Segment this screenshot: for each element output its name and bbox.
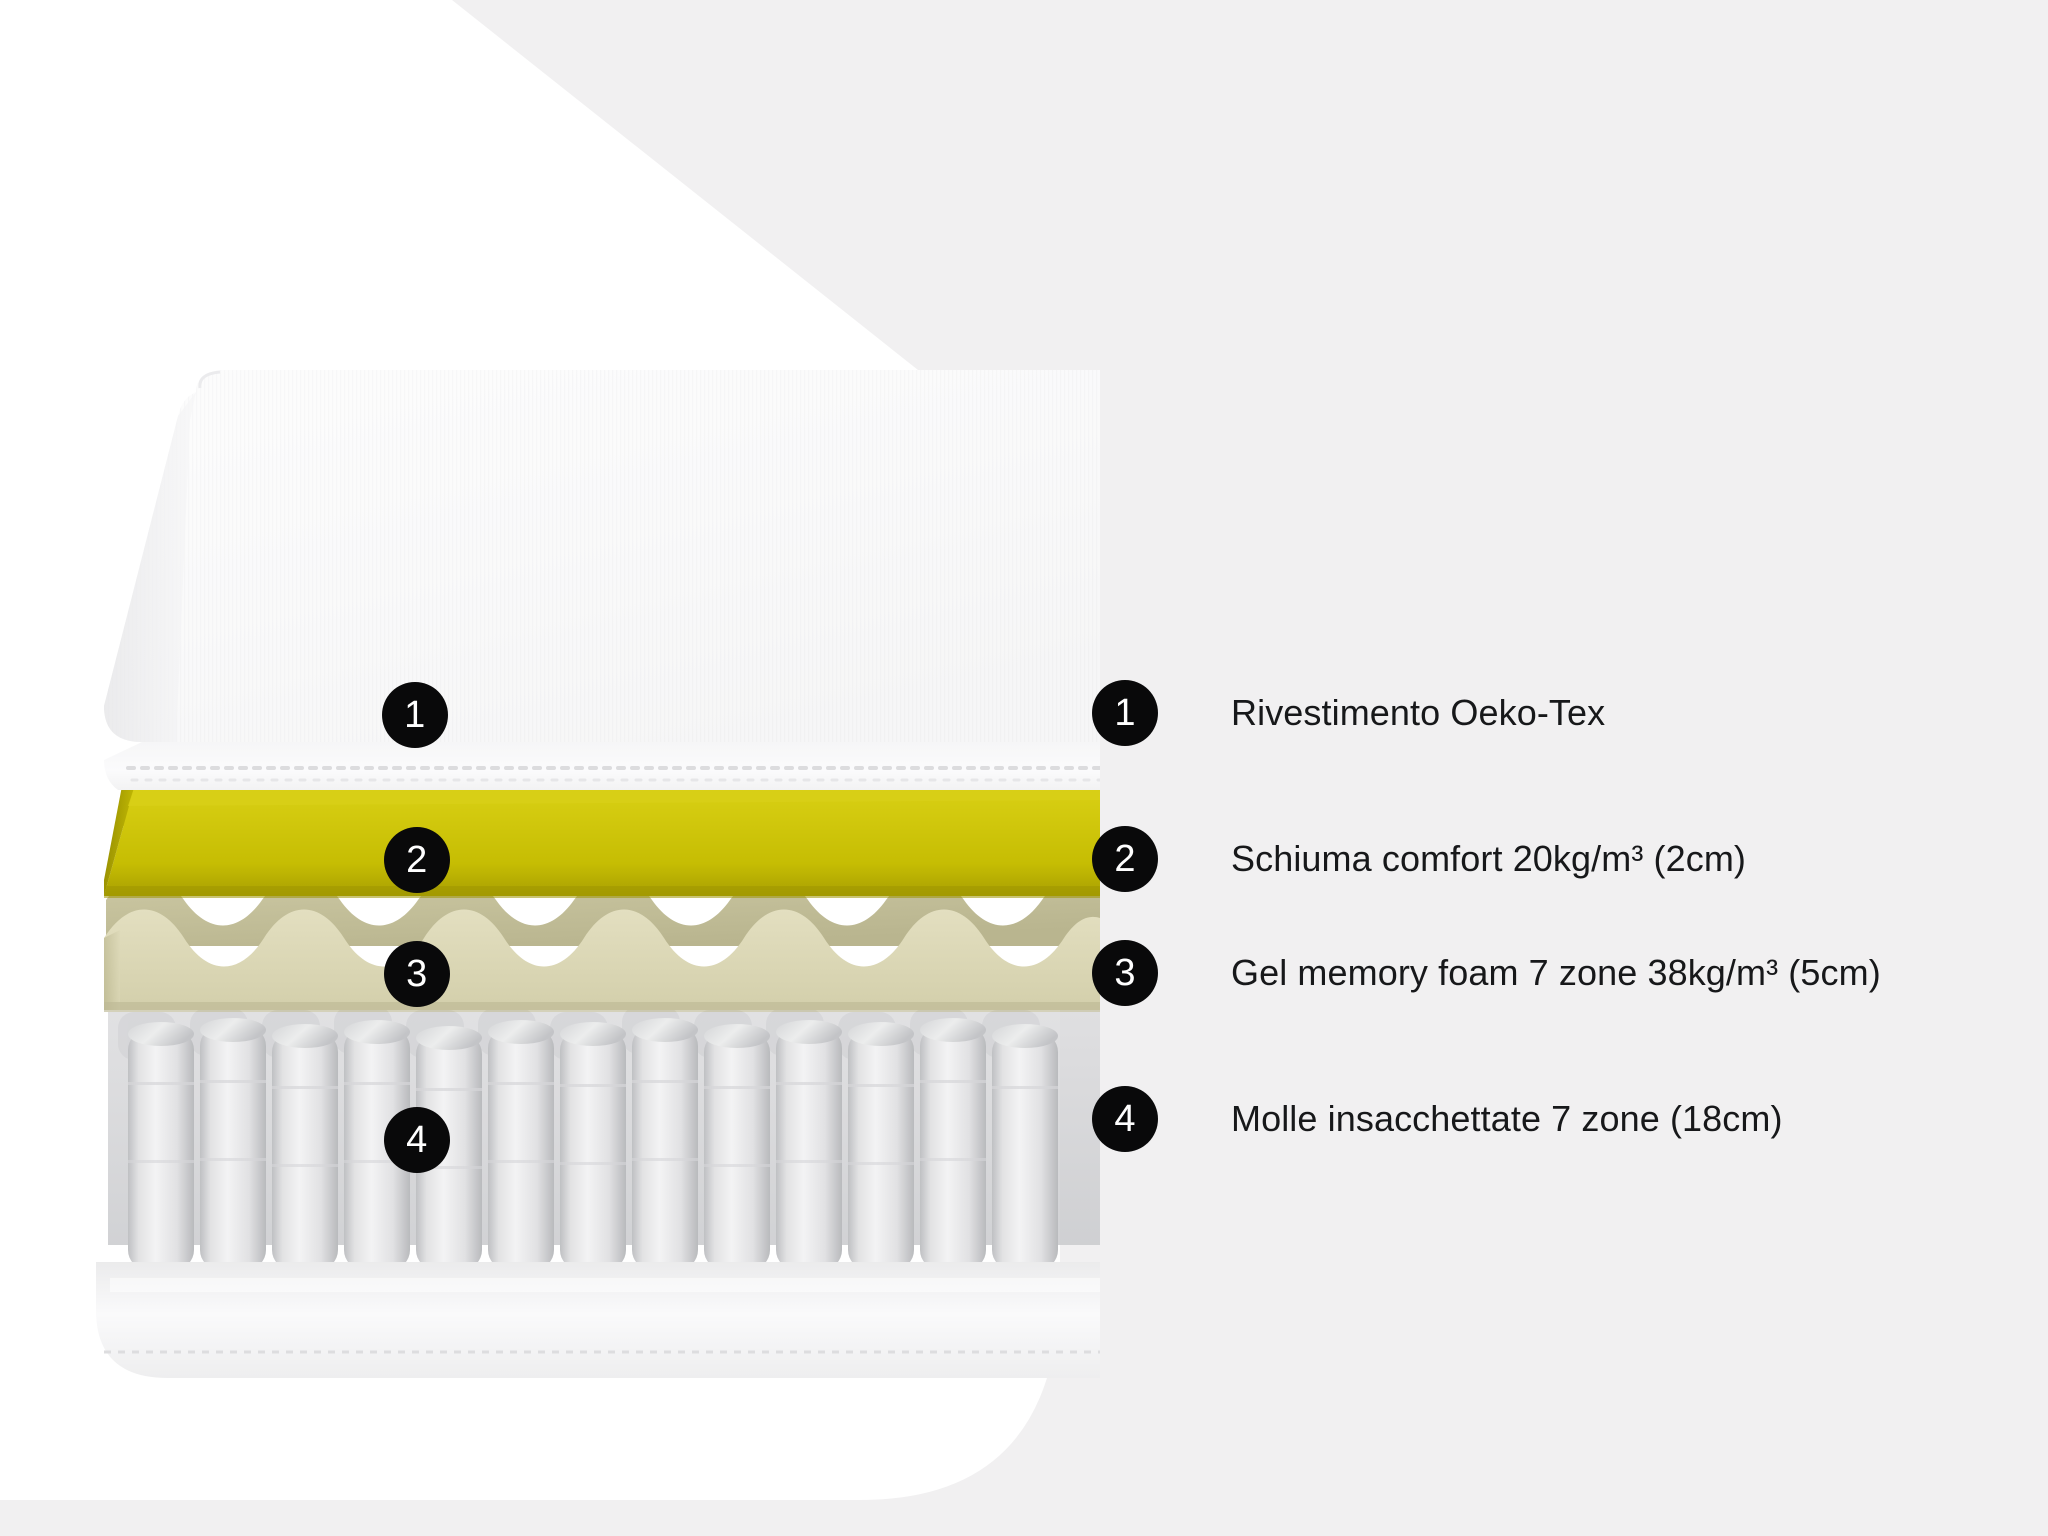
legend-badge-1: 1 bbox=[1092, 680, 1158, 746]
layer-badge-1-number: 1 bbox=[404, 696, 426, 734]
legend-label-2: Schiuma comfort 20kg/m³ (2cm) bbox=[1231, 838, 1746, 880]
mattress-illustration bbox=[0, 0, 1100, 1536]
comfort-foam-bottom-lip bbox=[104, 886, 1100, 898]
legend-badge-2: 2 bbox=[1092, 826, 1158, 892]
legend-item-1[interactable]: 1 Rivestimento Oeko-Tex bbox=[1092, 680, 1605, 746]
legend-item-4[interactable]: 4 Molle insacchettate 7 zone (18cm) bbox=[1092, 1086, 1783, 1152]
legend-label-4: Molle insacchettate 7 zone (18cm) bbox=[1231, 1098, 1783, 1140]
legend-badge-1-number: 1 bbox=[1114, 694, 1135, 732]
layer-badge-4[interactable]: 4 bbox=[384, 1107, 450, 1173]
layer-badge-3-number: 3 bbox=[406, 955, 428, 993]
legend-badge-4: 4 bbox=[1092, 1086, 1158, 1152]
legend-label-3: Gel memory foam 7 zone 38kg/m³ (5cm) bbox=[1231, 952, 1881, 994]
legend-item-3[interactable]: 3 Gel memory foam 7 zone 38kg/m³ (5cm) bbox=[1092, 940, 1881, 1006]
layer-pocket-springs bbox=[96, 1006, 1100, 1378]
layer-badge-4-number: 4 bbox=[406, 1121, 428, 1159]
legend-badge-3-number: 3 bbox=[1114, 954, 1135, 992]
legend-item-2[interactable]: 2 Schiuma comfort 20kg/m³ (2cm) bbox=[1092, 826, 1746, 892]
layer-comfort-foam bbox=[104, 786, 1100, 898]
layer-badge-3[interactable]: 3 bbox=[384, 941, 450, 1007]
layer-badge-2[interactable]: 2 bbox=[384, 827, 450, 893]
legend-label-1: Rivestimento Oeko-Tex bbox=[1231, 692, 1605, 734]
layer-cover-oeko-tex bbox=[104, 370, 1100, 790]
cover-front-band bbox=[104, 742, 1100, 790]
memory-foam-bottom-edge bbox=[104, 1002, 1100, 1012]
infographic-canvas: 1 2 3 4 1 Rivestimento Oeko-Tex 2 Schium… bbox=[0, 0, 2048, 1536]
legend-badge-4-number: 4 bbox=[1114, 1100, 1135, 1138]
mattress-base-highlight bbox=[110, 1278, 1100, 1292]
cover-knit-texture bbox=[104, 370, 1100, 742]
memory-foam-left-face bbox=[104, 930, 120, 1010]
layer-badge-2-number: 2 bbox=[406, 841, 428, 879]
legend-badge-3: 3 bbox=[1092, 940, 1158, 1006]
legend-badge-2-number: 2 bbox=[1114, 840, 1135, 878]
layer-badge-1[interactable]: 1 bbox=[382, 682, 448, 748]
